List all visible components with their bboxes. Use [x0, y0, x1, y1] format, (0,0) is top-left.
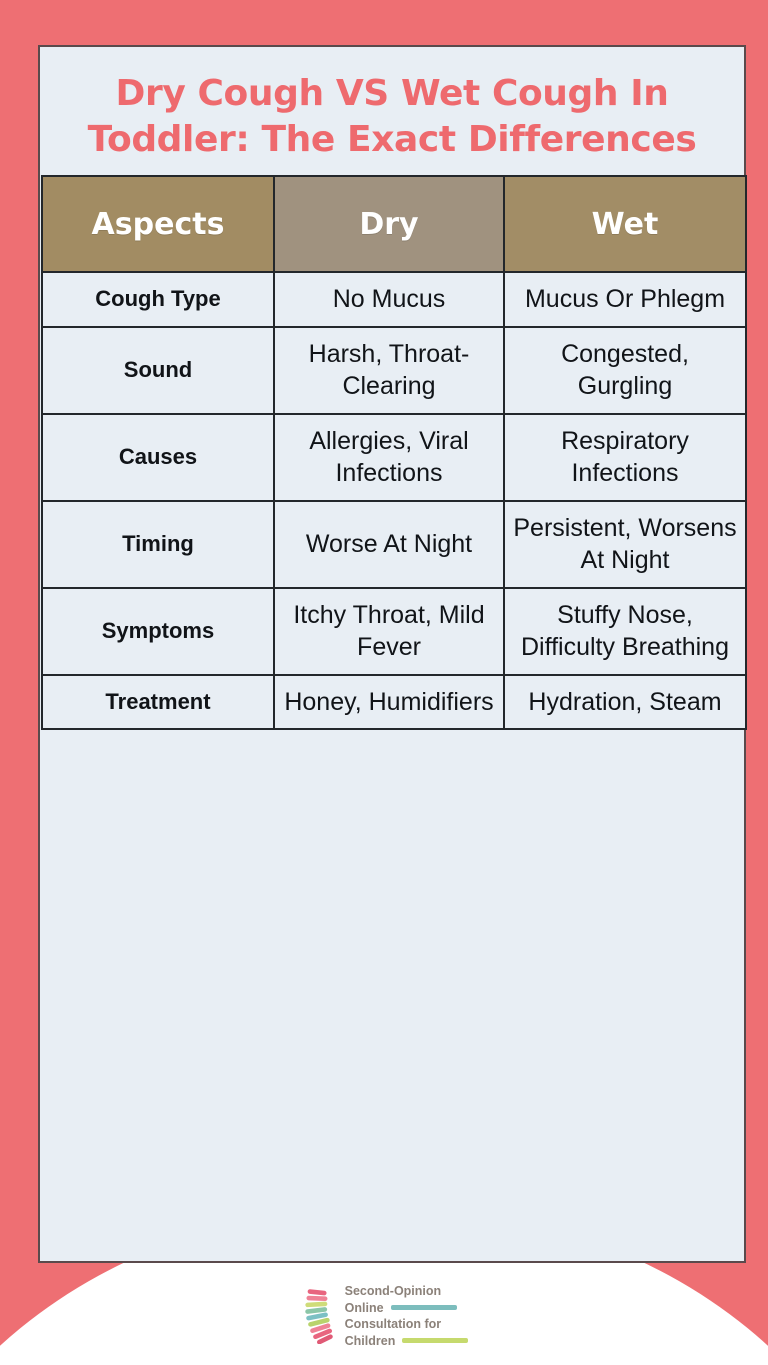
logo-line-3: Consultation for [345, 1316, 469, 1333]
table-row: Sound Harsh, Throat-Clearing Congested, … [42, 327, 746, 414]
cell-dry-sound: Harsh, Throat-Clearing [274, 327, 504, 414]
logo-wordmark: Second-Opinion Online Consultation for C… [345, 1283, 469, 1349]
comparison-table: Aspects Dry Wet Cough Type No Mucus Mucu… [41, 175, 747, 730]
table-body: Cough Type No Mucus Mucus Or Phlegm Soun… [42, 272, 746, 729]
cell-dry-symptoms: Itchy Throat, Mild Fever [274, 588, 504, 675]
table-row: Cough Type No Mucus Mucus Or Phlegm [42, 272, 746, 327]
logo-bar-green [402, 1338, 468, 1343]
cell-dry-timing: Worse At Night [274, 501, 504, 588]
table-row: Timing Worse At Night Persistent, Worsen… [42, 501, 746, 588]
footer-brand-logo: Second-Opinion Online Consultation for C… [0, 1283, 768, 1349]
logo-line-4: Children [345, 1333, 469, 1350]
table-row: Symptoms Itchy Throat, Mild Fever Stuffy… [42, 588, 746, 675]
infographic-canvas: Dry Cough VS Wet Cough In Toddler: The E… [0, 0, 768, 1365]
column-header-dry: Dry [274, 176, 504, 272]
cell-wet-treatment: Hydration, Steam [504, 675, 746, 730]
row-label-sound: Sound [42, 327, 274, 414]
cell-wet-timing: Persistent, Worsens At Night [504, 501, 746, 588]
table-row: Treatment Honey, Humidifiers Hydration, … [42, 675, 746, 730]
cell-wet-causes: Respiratory Infections [504, 414, 746, 501]
row-label-timing: Timing [42, 501, 274, 588]
table-header: Aspects Dry Wet [42, 176, 746, 272]
cell-wet-symptoms: Stuffy Nose, Difficulty Breathing [504, 588, 746, 675]
row-label-treatment: Treatment [42, 675, 274, 730]
row-label-cough-type: Cough Type [42, 272, 274, 327]
row-label-symptoms: Symptoms [42, 588, 274, 675]
logo-text-children: Children [345, 1333, 396, 1350]
column-header-aspects: Aspects [42, 176, 274, 272]
logo-line-1: Second-Opinion [345, 1283, 469, 1300]
cell-dry-cough-type: No Mucus [274, 272, 504, 327]
logo-line-2: Online [345, 1300, 469, 1317]
logo-bar-teal [391, 1305, 457, 1310]
second-opinion-logo-icon [300, 1288, 336, 1344]
row-label-causes: Causes [42, 414, 274, 501]
page-title: Dry Cough VS Wet Cough In Toddler: The E… [68, 71, 716, 163]
logo-text-consultation-for: Consultation for [345, 1316, 442, 1333]
cell-dry-causes: Allergies, Viral Infections [274, 414, 504, 501]
column-header-wet: Wet [504, 176, 746, 272]
table-header-row: Aspects Dry Wet [42, 176, 746, 272]
content-panel: Dry Cough VS Wet Cough In Toddler: The E… [38, 45, 746, 1263]
cell-wet-cough-type: Mucus Or Phlegm [504, 272, 746, 327]
table-row: Causes Allergies, Viral Infections Respi… [42, 414, 746, 501]
cell-dry-treatment: Honey, Humidifiers [274, 675, 504, 730]
cell-wet-sound: Congested, Gurgling [504, 327, 746, 414]
logo-text-online: Online [345, 1300, 384, 1317]
logo-text-second-opinion: Second-Opinion [345, 1283, 442, 1300]
